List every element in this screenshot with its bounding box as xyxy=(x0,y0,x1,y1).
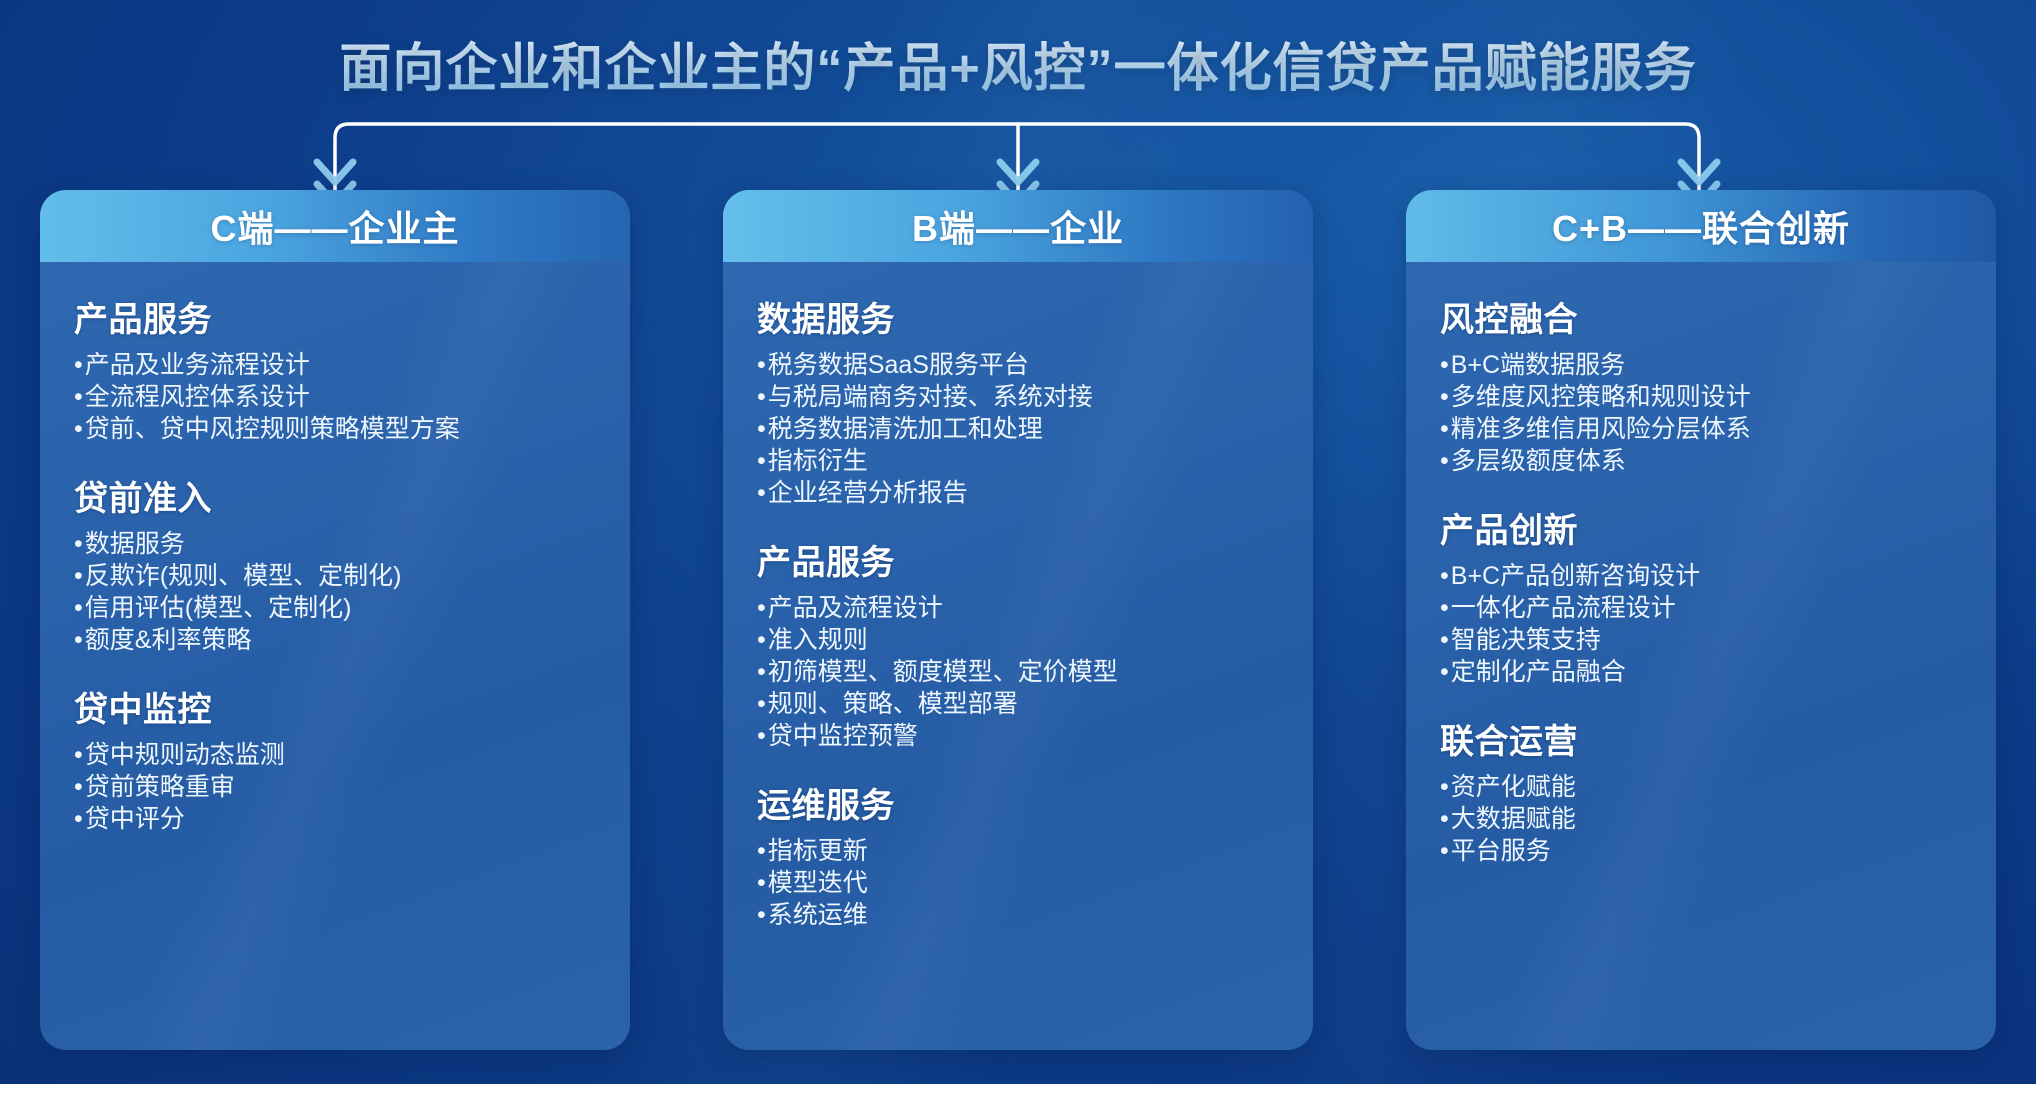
list-item-label: B+C端数据服务 xyxy=(1451,349,1625,381)
list-item: •全流程风控体系设计 xyxy=(74,381,596,413)
list-item-label: B+C产品创新咨询设计 xyxy=(1451,560,1700,592)
bullet-dot-icon: • xyxy=(1440,417,1449,442)
list-item-label: 与税局端商务对接、系统对接 xyxy=(768,381,1093,413)
section-title: 贷前准入 xyxy=(74,471,596,520)
card-b-end[interactable]: B端——企业 数据服务 •税务数据SaaS服务平台 •与税局端商务对接、系统对接… xyxy=(723,190,1313,1050)
card-header-b-end: B端——企业 xyxy=(723,190,1313,262)
list-item: •产品及业务流程设计 xyxy=(74,349,596,381)
list-item-label: 信用评估(模型、定制化) xyxy=(85,592,352,624)
section-title: 风控融合 xyxy=(1440,292,1962,341)
list-item-label: 多维度风控策略和规则设计 xyxy=(1451,381,1751,413)
list-item: •贷中评分 xyxy=(74,803,596,835)
section-block: 数据服务 •税务数据SaaS服务平台 •与税局端商务对接、系统对接 •税务数据清… xyxy=(757,292,1279,509)
bullet-dot-icon: • xyxy=(1440,564,1449,589)
bullet-dot-icon: • xyxy=(74,743,83,768)
bullet-dot-icon: • xyxy=(1440,353,1449,378)
list-item: •企业经营分析报告 xyxy=(757,477,1279,509)
list-item-label: 产品及业务流程设计 xyxy=(85,349,310,381)
list-item: •多层级额度体系 xyxy=(1440,445,1962,477)
bullet-dot-icon: • xyxy=(1440,660,1449,685)
section-block: 贷中监控 •贷中规则动态监测 •贷前策略重审 •贷中评分 xyxy=(74,682,596,835)
list-item-label: 反欺诈(规则、模型、定制化) xyxy=(85,560,402,592)
list-item-label: 系统运维 xyxy=(768,899,868,931)
bullet-dot-icon: • xyxy=(1440,775,1449,800)
list-item-label: 智能决策支持 xyxy=(1451,624,1601,656)
list-item: •贷中监控预警 xyxy=(757,720,1279,752)
list-item: •准入规则 xyxy=(757,624,1279,656)
list-item-label: 精准多维信用风险分层体系 xyxy=(1451,413,1751,445)
list-item-label: 大数据赋能 xyxy=(1451,803,1576,835)
bullet-dot-icon: • xyxy=(1440,807,1449,832)
list-item: •数据服务 xyxy=(74,528,596,560)
section-block: 产品服务 •产品及业务流程设计 •全流程风控体系设计 •贷前、贷中风控规则策略模… xyxy=(74,292,596,445)
list-item-label: 额度&利率策略 xyxy=(85,624,252,656)
list-item: •智能决策支持 xyxy=(1440,624,1962,656)
bullet-dot-icon: • xyxy=(757,481,766,506)
list-item-label: 贷中评分 xyxy=(85,803,185,835)
bullet-list: •产品及业务流程设计 •全流程风控体系设计 •贷前、贷中风控规则策略模型方案 xyxy=(74,349,596,445)
bullet-dot-icon: • xyxy=(74,807,83,832)
section-title: 数据服务 xyxy=(757,292,1279,341)
bullet-list: •指标更新 •模型迭代 •系统运维 xyxy=(757,835,1279,931)
list-item-label: 税务数据清洗加工和处理 xyxy=(768,413,1043,445)
list-item: •多维度风控策略和规则设计 xyxy=(1440,381,1962,413)
bullet-dot-icon: • xyxy=(757,628,766,653)
list-item: •额度&利率策略 xyxy=(74,624,596,656)
column-cards: C端——企业主 产品服务 •产品及业务流程设计 •全流程风控体系设计 •贷前、贷… xyxy=(0,190,2036,1050)
card-body-c-end: 产品服务 •产品及业务流程设计 •全流程风控体系设计 •贷前、贷中风控规则策略模… xyxy=(40,262,630,1050)
list-item-label: 贷前、贷中风控规则策略模型方案 xyxy=(85,413,460,445)
list-item: •初筛模型、额度模型、定价模型 xyxy=(757,656,1279,688)
card-header-c-end: C端——企业主 xyxy=(40,190,630,262)
section-title: 产品创新 xyxy=(1440,503,1962,552)
list-item: •B+C产品创新咨询设计 xyxy=(1440,560,1962,592)
bullet-dot-icon: • xyxy=(74,564,83,589)
bullet-list: •B+C端数据服务 •多维度风控策略和规则设计 •精准多维信用风险分层体系 •多… xyxy=(1440,349,1962,477)
list-item-label: 指标衍生 xyxy=(768,445,868,477)
bottom-strip xyxy=(0,1084,2036,1110)
list-item: •资产化赋能 xyxy=(1440,771,1962,803)
list-item: •大数据赋能 xyxy=(1440,803,1962,835)
section-block: 贷前准入 •数据服务 •反欺诈(规则、模型、定制化) •信用评估(模型、定制化)… xyxy=(74,471,596,656)
list-item: •指标衍生 xyxy=(757,445,1279,477)
bullet-dot-icon: • xyxy=(1440,839,1449,864)
section-title: 联合运营 xyxy=(1440,714,1962,763)
list-item: •贷中规则动态监测 xyxy=(74,739,596,771)
bullet-dot-icon: • xyxy=(1440,385,1449,410)
bullet-dot-icon: • xyxy=(1440,628,1449,653)
slide-root: 面向企业和企业主的“产品+风控”一体化信贷产品赋能服务 C端——企业主 产 xyxy=(0,0,2036,1110)
bullet-dot-icon: • xyxy=(74,596,83,621)
list-item: •产品及流程设计 xyxy=(757,592,1279,624)
card-body-cb-joint: 风控融合 •B+C端数据服务 •多维度风控策略和规则设计 •精准多维信用风险分层… xyxy=(1406,262,1996,1050)
bullet-dot-icon: • xyxy=(757,385,766,410)
bullet-dot-icon: • xyxy=(1440,596,1449,621)
list-item: •反欺诈(规则、模型、定制化) xyxy=(74,560,596,592)
card-header-cb-joint: C+B——联合创新 xyxy=(1406,190,1996,262)
bullet-dot-icon: • xyxy=(757,692,766,717)
list-item-label: 指标更新 xyxy=(768,835,868,867)
list-item-label: 贷中监控预警 xyxy=(768,720,918,752)
list-item: •精准多维信用风险分层体系 xyxy=(1440,413,1962,445)
bullet-dot-icon: • xyxy=(74,775,83,800)
bullet-list: •B+C产品创新咨询设计 •一体化产品流程设计 •智能决策支持 •定制化产品融合 xyxy=(1440,560,1962,688)
section-title: 产品服务 xyxy=(74,292,596,341)
list-item: •平台服务 xyxy=(1440,835,1962,867)
page-title: 面向企业和企业主的“产品+风控”一体化信贷产品赋能服务 xyxy=(0,26,2036,101)
list-item: •税务数据清洗加工和处理 xyxy=(757,413,1279,445)
bullet-list: •资产化赋能 •大数据赋能 •平台服务 xyxy=(1440,771,1962,867)
section-title: 产品服务 xyxy=(757,535,1279,584)
bullet-dot-icon: • xyxy=(757,903,766,928)
bullet-dot-icon: • xyxy=(757,449,766,474)
bullet-dot-icon: • xyxy=(74,417,83,442)
list-item-label: 税务数据SaaS服务平台 xyxy=(768,349,1029,381)
bullet-dot-icon: • xyxy=(74,628,83,653)
card-body-b-end: 数据服务 •税务数据SaaS服务平台 •与税局端商务对接、系统对接 •税务数据清… xyxy=(723,262,1313,1050)
bullet-dot-icon: • xyxy=(757,417,766,442)
bullet-dot-icon: • xyxy=(1440,449,1449,474)
bullet-list: •产品及流程设计 •准入规则 •初筛模型、额度模型、定价模型 •规则、策略、模型… xyxy=(757,592,1279,752)
list-item-label: 一体化产品流程设计 xyxy=(1451,592,1676,624)
bullet-dot-icon: • xyxy=(757,596,766,621)
list-item-label: 准入规则 xyxy=(768,624,868,656)
section-title: 运维服务 xyxy=(757,778,1279,827)
list-item: •一体化产品流程设计 xyxy=(1440,592,1962,624)
section-block: 运维服务 •指标更新 •模型迭代 •系统运维 xyxy=(757,778,1279,931)
list-item-label: 全流程风控体系设计 xyxy=(85,381,310,413)
bullet-dot-icon: • xyxy=(757,353,766,378)
list-item-label: 企业经营分析报告 xyxy=(768,477,968,509)
bullet-dot-icon: • xyxy=(74,353,83,378)
bullet-dot-icon: • xyxy=(757,660,766,685)
list-item-label: 产品及流程设计 xyxy=(768,592,943,624)
list-item: •指标更新 xyxy=(757,835,1279,867)
list-item: •模型迭代 xyxy=(757,867,1279,899)
bullet-dot-icon: • xyxy=(757,724,766,749)
list-item: •信用评估(模型、定制化) xyxy=(74,592,596,624)
section-title: 贷中监控 xyxy=(74,682,596,731)
bullet-list: •数据服务 •反欺诈(规则、模型、定制化) •信用评估(模型、定制化) •额度&… xyxy=(74,528,596,656)
section-block: 风控融合 •B+C端数据服务 •多维度风控策略和规则设计 •精准多维信用风险分层… xyxy=(1440,292,1962,477)
list-item: •定制化产品融合 xyxy=(1440,656,1962,688)
list-item-label: 规则、策略、模型部署 xyxy=(768,688,1018,720)
list-item-label: 数据服务 xyxy=(85,528,185,560)
list-item-label: 贷中规则动态监测 xyxy=(85,739,285,771)
list-item-label: 资产化赋能 xyxy=(1451,771,1576,803)
bullet-list: •税务数据SaaS服务平台 •与税局端商务对接、系统对接 •税务数据清洗加工和处… xyxy=(757,349,1279,509)
list-item-label: 多层级额度体系 xyxy=(1451,445,1626,477)
bullet-dot-icon: • xyxy=(757,871,766,896)
list-item-label: 定制化产品融合 xyxy=(1451,656,1626,688)
bullet-dot-icon: • xyxy=(74,532,83,557)
list-item-label: 贷前策略重审 xyxy=(85,771,235,803)
list-item-label: 模型迭代 xyxy=(768,867,868,899)
list-item-label: 平台服务 xyxy=(1451,835,1551,867)
section-block: 产品服务 •产品及流程设计 •准入规则 •初筛模型、额度模型、定价模型 •规则、… xyxy=(757,535,1279,752)
list-item: •B+C端数据服务 xyxy=(1440,349,1962,381)
bullet-dot-icon: • xyxy=(757,839,766,864)
list-item: •税务数据SaaS服务平台 xyxy=(757,349,1279,381)
list-item: •系统运维 xyxy=(757,899,1279,931)
bullet-list: •贷中规则动态监测 •贷前策略重审 •贷中评分 xyxy=(74,739,596,835)
list-item: •规则、策略、模型部署 xyxy=(757,688,1279,720)
list-item: •贷前、贷中风控规则策略模型方案 xyxy=(74,413,596,445)
card-c-end[interactable]: C端——企业主 产品服务 •产品及业务流程设计 •全流程风控体系设计 •贷前、贷… xyxy=(40,190,630,1050)
card-cb-joint[interactable]: C+B——联合创新 风控融合 •B+C端数据服务 •多维度风控策略和规则设计 •… xyxy=(1406,190,1996,1050)
list-item: •贷前策略重审 xyxy=(74,771,596,803)
bullet-dot-icon: • xyxy=(74,385,83,410)
list-item-label: 初筛模型、额度模型、定价模型 xyxy=(768,656,1118,688)
section-block: 产品创新 •B+C产品创新咨询设计 •一体化产品流程设计 •智能决策支持 •定制… xyxy=(1440,503,1962,688)
list-item: •与税局端商务对接、系统对接 xyxy=(757,381,1279,413)
section-block: 联合运营 •资产化赋能 •大数据赋能 •平台服务 xyxy=(1440,714,1962,867)
